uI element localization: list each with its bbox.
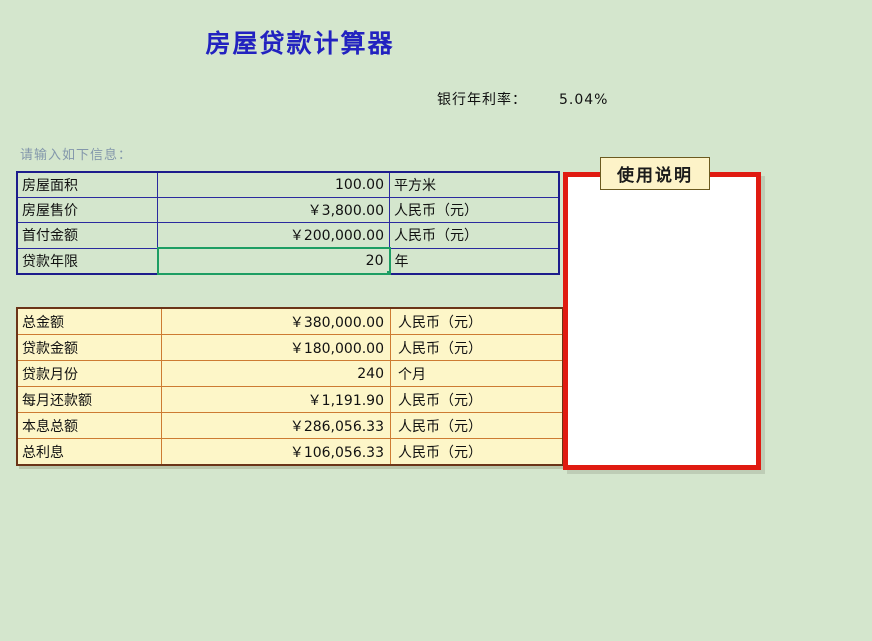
- result-row-unit-0: 人民币（元）: [391, 308, 564, 335]
- result-row-label-2: 贷款月份: [17, 361, 162, 387]
- input-field-house-area[interactable]: 100.00: [158, 172, 390, 198]
- result-row-unit-3: 人民币（元）: [391, 387, 564, 413]
- result-row-unit-4: 人民币（元）: [391, 413, 564, 439]
- result-row-label-0: 总金额: [17, 308, 162, 335]
- input-row-unit-0: 平方米: [390, 172, 560, 198]
- input-row-unit-3: 年: [390, 248, 560, 274]
- result-row-label-1: 贷款金额: [17, 335, 162, 361]
- help-panel-title: 使用说明: [600, 157, 710, 190]
- loan-result-table: 总金额 ￥380,000.00 人民币（元） 贷款金额 ￥180,000.00 …: [16, 307, 564, 466]
- page-title: 房屋贷款计算器: [0, 24, 600, 60]
- table-row: 房屋面积 100.00 平方米: [17, 172, 559, 198]
- table-row: 每月还款额 ￥1,191.90 人民币（元）: [17, 387, 563, 413]
- input-field-unit-price[interactable]: ￥3,800.00: [158, 198, 390, 223]
- table-row: 总金额 ￥380,000.00 人民币（元）: [17, 308, 563, 335]
- result-row-unit-2: 个月: [391, 361, 564, 387]
- result-value-loan-months: 240: [162, 361, 391, 387]
- result-value-total-amount: ￥380,000.00: [162, 308, 391, 335]
- table-row: 房屋售价 ￥3,800.00 人民币（元）: [17, 198, 559, 223]
- result-row-unit-5: 人民币（元）: [391, 439, 564, 466]
- input-field-loan-years[interactable]: 20: [158, 248, 390, 274]
- input-row-label-0: 房屋面积: [17, 172, 158, 198]
- input-row-unit-1: 人民币（元）: [390, 198, 560, 223]
- table-row: 总利息 ￥106,056.33 人民币（元）: [17, 439, 563, 466]
- result-row-label-3: 每月还款额: [17, 387, 162, 413]
- table-row: 首付金额 ￥200,000.00 人民币（元）: [17, 223, 559, 249]
- cell-fill-handle[interactable]: [387, 271, 390, 274]
- result-value-principal-interest-total: ￥286,056.33: [162, 413, 391, 439]
- result-row-unit-1: 人民币（元）: [391, 335, 564, 361]
- result-row-label-4: 本息总额: [17, 413, 162, 439]
- input-row-label-1: 房屋售价: [17, 198, 158, 223]
- result-value-total-interest: ￥106,056.33: [162, 439, 391, 466]
- bank-rate-row: 银行年利率：5.04%: [437, 89, 608, 109]
- help-panel: 用户在输入区域中，输入房屋面积、房屋售价、首付金额和贷款年限后，贷款的信息会自动…: [563, 172, 761, 470]
- table-row: 贷款年限 20 年: [17, 248, 559, 274]
- table-row: 贷款金额 ￥180,000.00 人民币（元）: [17, 335, 563, 361]
- input-field-down-payment[interactable]: ￥200,000.00: [158, 223, 390, 249]
- input-row-label-2: 首付金额: [17, 223, 158, 249]
- result-value-loan-amount: ￥180,000.00: [162, 335, 391, 361]
- result-row-label-5: 总利息: [17, 439, 162, 466]
- bank-rate-value[interactable]: 5.04%: [559, 92, 608, 108]
- bank-rate-label: 银行年利率：: [437, 92, 527, 108]
- input-prompt-label: 请输入如下信息：: [20, 144, 132, 163]
- input-row-label-3: 贷款年限: [17, 248, 158, 274]
- result-value-monthly-payment: ￥1,191.90: [162, 387, 391, 413]
- input-row-unit-2: 人民币（元）: [390, 223, 560, 249]
- loan-result-table-body: 总金额 ￥380,000.00 人民币（元） 贷款金额 ￥180,000.00 …: [17, 308, 563, 465]
- table-row: 本息总额 ￥286,056.33 人民币（元）: [17, 413, 563, 439]
- loan-input-table: 房屋面积 100.00 平方米 房屋售价 ￥3,800.00 人民币（元） 首付…: [16, 171, 560, 275]
- table-row: 贷款月份 240 个月: [17, 361, 563, 387]
- loan-input-table-body: 房屋面积 100.00 平方米 房屋售价 ￥3,800.00 人民币（元） 首付…: [17, 172, 559, 274]
